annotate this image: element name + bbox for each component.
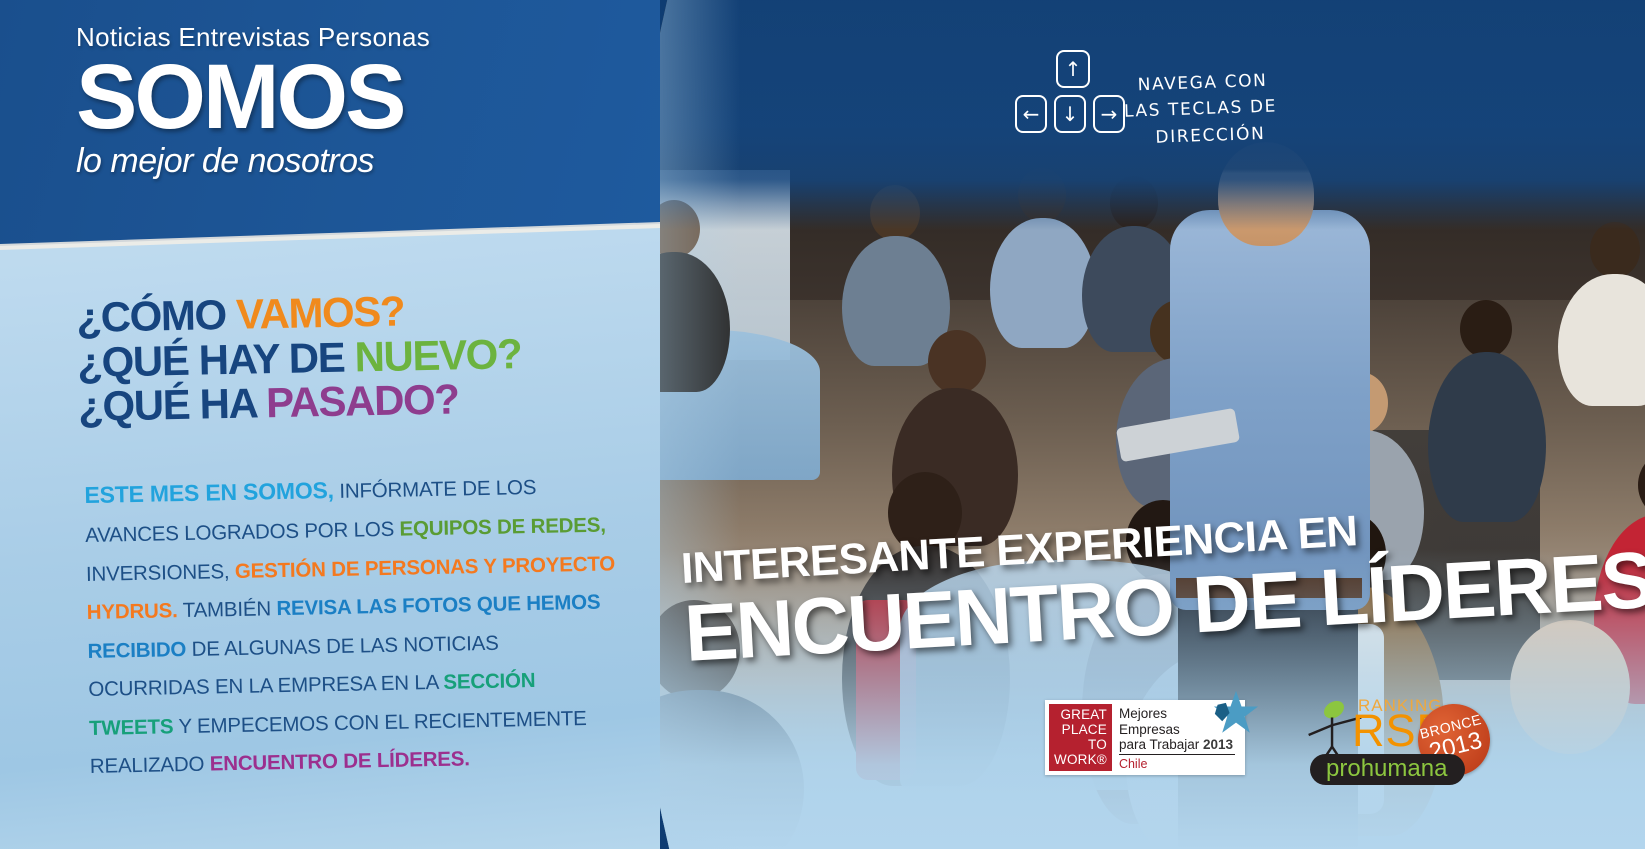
intro-paragraph: ESTE MES EN SOMOS, INFÓRMATE DE LOS AVAN… — [84, 463, 620, 787]
question-3-prefix: ¿QUÉ HA — [78, 379, 267, 430]
gptw-trabajar-row: para Trabajar 2013 — [1119, 737, 1235, 755]
gptw-para-trabajar: para Trabajar — [1119, 737, 1199, 752]
brand-block: Noticias Entrevistas Personas SOMOS lo m… — [76, 22, 430, 181]
gptw-star-icon — [1213, 690, 1259, 736]
question-1-accent: VAMOS? — [236, 287, 405, 337]
arrow-keys-bottom-row: ← ↓ → — [1015, 95, 1125, 133]
gptw-red-block: GREAT PLACE TO WORK® — [1049, 704, 1112, 771]
nav-hint-line-3: DIRECCIÓN — [1142, 120, 1278, 151]
gptw-line-to: TO — [1054, 737, 1107, 752]
intro-lead: ESTE MES EN SOMOS, — [84, 477, 334, 508]
brand-wordmark: SOMOS — [76, 55, 430, 140]
slide-canvas: Noticias Entrevistas Personas SOMOS lo m… — [0, 0, 1645, 849]
arrow-keys-group[interactable]: ↑ ← ↓ → — [1015, 50, 1125, 133]
navigation-hint: NAVEGA CON LAS TECLAS DE DIRECCIÓN — [1129, 67, 1279, 151]
intro-highlight-lideres: ENCUENTRO DE LÍDERES. — [210, 748, 470, 776]
gptw-line-great: GREAT — [1054, 707, 1107, 722]
arrow-left-key-icon[interactable]: ← — [1015, 95, 1047, 133]
prohumana-label: prohumana — [1326, 755, 1447, 782]
arrow-down-key-icon[interactable]: ↓ — [1054, 95, 1086, 133]
intro-text-3: TAMBIÉN — [177, 597, 276, 622]
question-2-accent: NUEVO? — [354, 330, 522, 380]
gptw-line-work: WORK® — [1054, 752, 1107, 767]
gptw-line-place: PLACE — [1054, 722, 1107, 737]
gptw-year: 2013 — [1203, 737, 1233, 752]
intro-highlight-redes: EQUIPOS DE REDES, — [399, 514, 606, 541]
arrow-right-key-icon[interactable]: → — [1093, 95, 1125, 133]
ranking-rse-prohumana-logo: RANKING RSE BRONCE 2013 prohumana — [1300, 692, 1500, 787]
prohumana-pill: prohumana — [1310, 754, 1465, 785]
question-3-accent: PASADO? — [266, 375, 459, 426]
question-line-3: ¿QUÉ HA PASADO? — [78, 376, 523, 429]
intro-text-2: INVERSIONES, — [86, 560, 235, 586]
question-1-prefix: ¿CÓMO — [76, 291, 237, 341]
great-place-to-work-logo: GREAT PLACE TO WORK® Mejores Empresas pa… — [1045, 700, 1245, 775]
questions-headline: ¿CÓMO VAMOS? ¿QUÉ HAY DE NUEVO? ¿QUÉ HA … — [76, 287, 523, 429]
gptw-country: Chile — [1119, 755, 1235, 772]
arrow-up-key-icon[interactable]: ↑ — [1056, 50, 1090, 88]
